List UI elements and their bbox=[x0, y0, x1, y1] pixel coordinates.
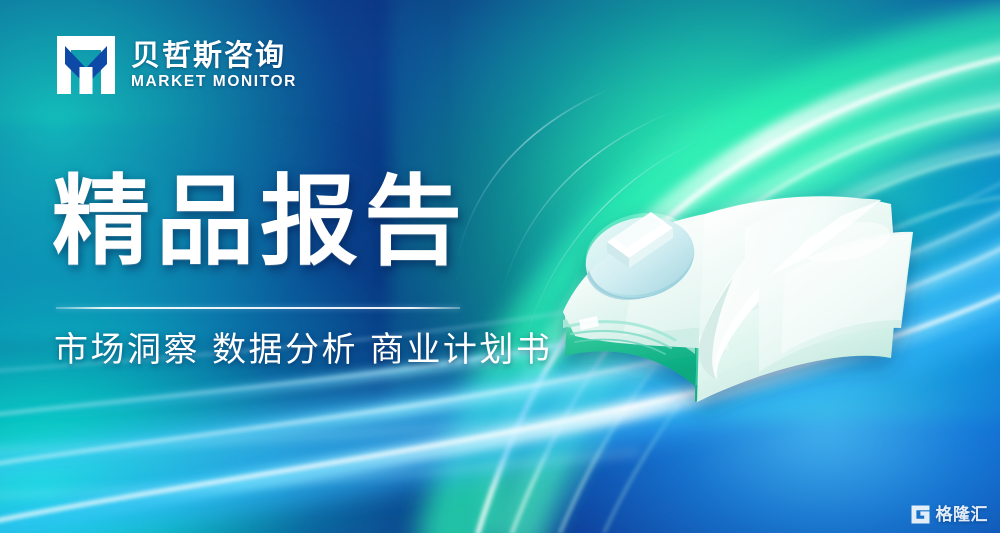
brand-logo-text: 贝哲斯咨询 MARKET MONITOR bbox=[131, 40, 297, 90]
poster-subtitle: 市场洞察 数据分析 商业计划书 bbox=[54, 328, 552, 374]
brand-name-en: MARKET MONITOR bbox=[131, 74, 297, 90]
headline-divider bbox=[56, 307, 460, 309]
report-cover-poster: 贝哲斯咨询 MARKET MONITOR 精品报告 市场洞察 数据分析 商业计划… bbox=[0, 0, 1000, 533]
gelonghui-g-logo-icon bbox=[910, 504, 931, 525]
brand-name-cn: 贝哲斯咨询 bbox=[131, 42, 297, 71]
gelonghui-watermark: 格隆汇 bbox=[910, 504, 989, 525]
gelonghui-watermark-text: 格隆汇 bbox=[936, 506, 989, 523]
open-book-with-lens-icon bbox=[545, 150, 955, 440]
brand-logo: 贝哲斯咨询 MARKET MONITOR bbox=[55, 34, 297, 96]
poster-headline: 精品报告 bbox=[52, 172, 468, 270]
market-monitor-m-logo-icon bbox=[55, 34, 117, 96]
